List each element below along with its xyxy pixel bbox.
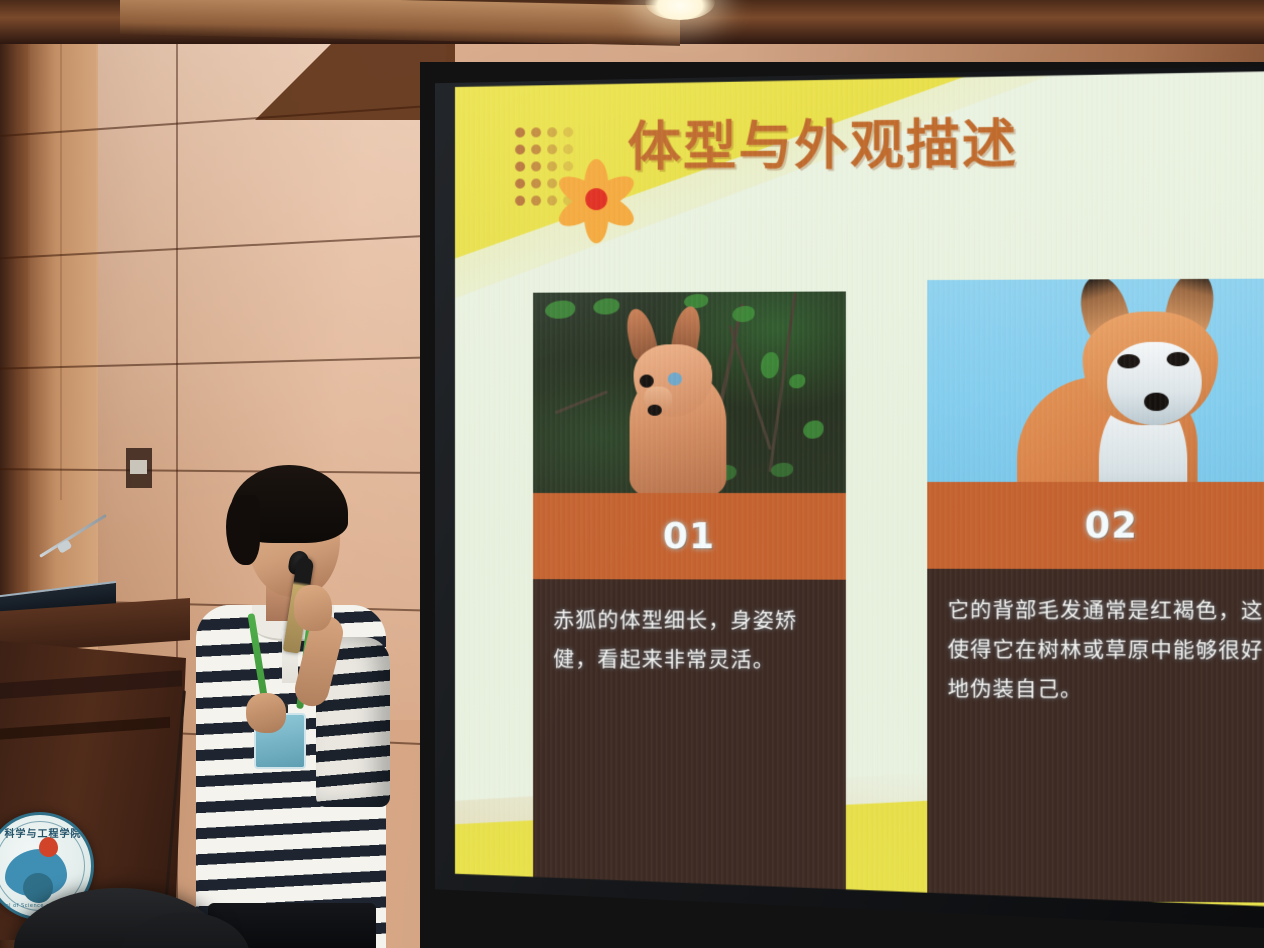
- presenter-hair-side: [226, 495, 260, 565]
- presentation-photo-scene: 科学与工程学院 School of Science and Engineerin…: [0, 0, 1264, 948]
- card-photo-fox-cub: [533, 291, 846, 493]
- logo-text-chinese: 科学与工程学院: [0, 825, 94, 840]
- fox-cub-image: [533, 291, 846, 493]
- red-fox-image: [927, 279, 1264, 482]
- slide-card: 01 赤狐的体型细长，身姿矫健，看起来非常灵活。: [533, 291, 846, 906]
- presentation-slide: 体型与外观描述: [455, 71, 1264, 906]
- card-number: 02: [1085, 505, 1138, 547]
- card-photo-red-fox: [927, 279, 1264, 482]
- card-description: 赤狐的体型细长，身姿矫健，看起来非常灵活。: [533, 579, 846, 906]
- wall-seam-vertical: [60, 0, 62, 500]
- flower-core: [585, 188, 607, 210]
- presenter: [190, 465, 390, 948]
- wall-switch-plate: [130, 460, 147, 474]
- card-number-band: 02: [927, 482, 1264, 569]
- slide-title: 体型与外观描述: [628, 102, 1019, 181]
- card-description: 它的背部毛发通常是红褐色，这使得它在树林或草原中能够很好地伪装自己。: [927, 569, 1264, 903]
- card-number-band: 01: [533, 493, 846, 580]
- logo-shape-blue-dark: [23, 873, 53, 903]
- presenter-hand-right: [294, 585, 332, 631]
- logo-shape-red: [39, 837, 58, 857]
- card-number: 01: [663, 516, 716, 557]
- slide-card: 02 它的背部毛发通常是红褐色，这使得它在树林或草原中能够很好地伪装自己。: [927, 279, 1264, 907]
- presenter-hand-left: [246, 693, 286, 733]
